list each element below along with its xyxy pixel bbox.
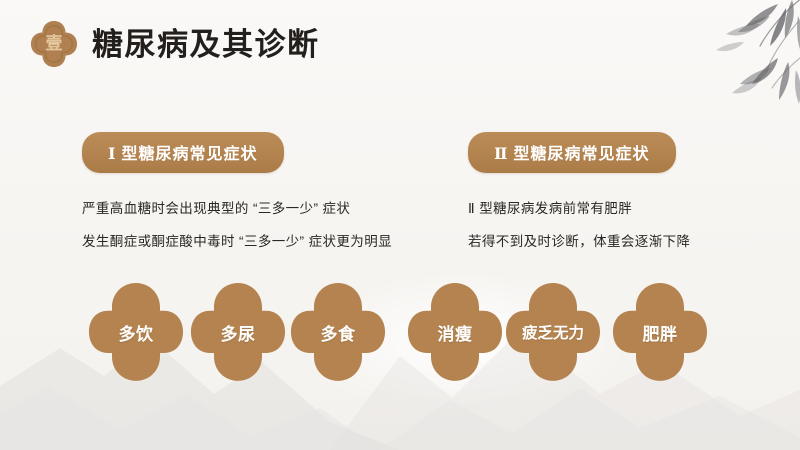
- symptom-label: 疲乏无力: [505, 282, 601, 386]
- symptom-badge-feipang[interactable]: 肥胖: [612, 282, 708, 386]
- symptom-label: 多尿: [190, 282, 286, 386]
- column-type-2: Ⅱ 型糖尿病常见症状 Ⅱ 型糖尿病发病前常有肥胖 若得不到及时诊断，体重会逐渐下…: [400, 132, 800, 258]
- symptom-badge-row: 多饮 多尿 多食 消瘦 疲乏无力: [0, 282, 800, 386]
- symptom-badge-xiaoshou[interactable]: 消瘦: [407, 282, 503, 386]
- body-line: 发生酮症或酮症酸中毒时 “三多一少” 症状更为明显: [82, 225, 400, 258]
- symptom-label: 多食: [290, 282, 386, 386]
- column-heading-type-1: Ⅰ 型糖尿病常见症状: [82, 132, 284, 173]
- bamboo-ink-painting-icon: [674, 0, 800, 114]
- symptom-label: 消瘦: [407, 282, 503, 386]
- symptom-badge-duoyin[interactable]: 多饮: [88, 282, 184, 386]
- section-number-badge: 壹: [30, 20, 78, 68]
- symptom-label: 多饮: [88, 282, 184, 386]
- page-title: 糖尿病及其诊断: [92, 29, 320, 60]
- slide-canvas: 壹 糖尿病及其诊断 Ⅰ 型糖尿病常见症状 严重高血糖时会出现典型的 “三多一少”…: [0, 0, 800, 450]
- symptom-badge-duoshi[interactable]: 多食: [290, 282, 386, 386]
- column-heading-type-2: Ⅱ 型糖尿病常见症状: [468, 132, 676, 173]
- content-columns: Ⅰ 型糖尿病常见症状 严重高血糖时会出现典型的 “三多一少” 症状 发生酮症或酮…: [0, 132, 800, 258]
- column-body-type-2: Ⅱ 型糖尿病发病前常有肥胖 若得不到及时诊断，体重会逐渐下降: [468, 192, 800, 258]
- body-line: 若得不到及时诊断，体重会逐渐下降: [468, 225, 800, 258]
- slide-header: 壹 糖尿病及其诊断: [30, 20, 320, 68]
- body-line: 严重高血糖时会出现典型的 “三多一少” 症状: [82, 192, 400, 225]
- body-line: Ⅱ 型糖尿病发病前常有肥胖: [468, 192, 800, 225]
- symptom-badge-pifawuli[interactable]: 疲乏无力: [505, 282, 601, 386]
- symptom-badge-duoniao[interactable]: 多尿: [190, 282, 286, 386]
- column-type-1: Ⅰ 型糖尿病常见症状 严重高血糖时会出现典型的 “三多一少” 症状 发生酮症或酮…: [0, 132, 400, 258]
- column-body-type-1: 严重高血糖时会出现典型的 “三多一少” 症状 发生酮症或酮症酸中毒时 “三多一少…: [82, 192, 400, 258]
- section-number-label: 壹: [30, 20, 78, 68]
- symptom-label: 肥胖: [612, 282, 708, 386]
